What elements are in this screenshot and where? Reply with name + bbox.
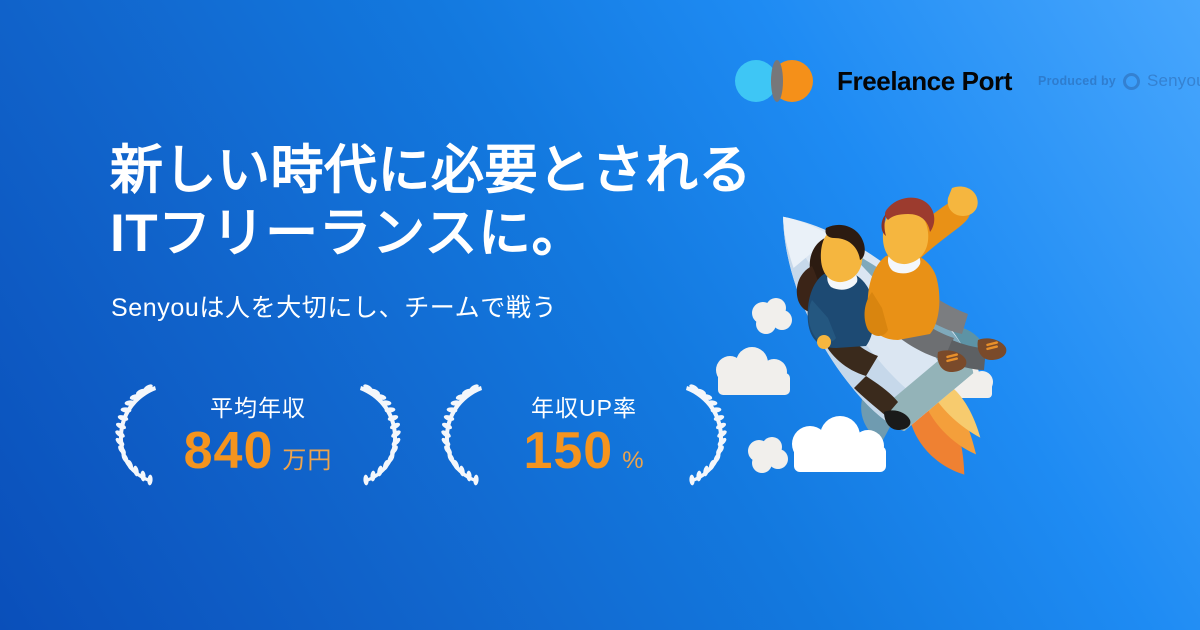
stat-body: 年収UP率 150 % [486,378,682,488]
produced-by-group: Produced by Senyou [1038,71,1200,91]
headline-line-2: ITフリーランスに。 [110,203,752,266]
stat-unit: % [622,449,644,473]
stat-value: 150 % [523,425,644,477]
hero-subtitle: Senyouは人を大切にし、チームで戦う [111,288,557,324]
stat-number: 150 [523,425,613,477]
stat-value: 840 万円 [184,425,333,477]
stats-group: 平均年収 840 万円 [108,378,734,488]
stat-card-average-income: 平均年収 840 万円 [108,378,408,488]
stat-card-income-up-rate: 年収UP率 150 % [434,378,734,488]
venn-two-circles-icon [735,60,823,102]
page-title: 新しい時代に必要とされる ITフリーランスに。 [110,140,752,265]
cloud-icon [748,437,788,473]
brand-name: Freelance Port [837,66,1012,97]
hero-banner: Freelance Port Produced by Senyou 新しい時代に… [0,0,1200,630]
stat-label: 平均年収 [210,389,306,423]
cloud-icon [752,298,792,334]
laurel-wreath-icon [356,378,404,488]
rocket-with-two-people-illustration [700,150,1120,510]
laurel-wreath-icon [438,378,486,488]
brand-bar: Freelance Port Produced by Senyou [735,60,1200,102]
stat-number: 840 [184,425,274,477]
stat-label: 年収UP率 [531,389,637,423]
headline-line-1: 新しい時代に必要とされる [110,140,752,203]
stat-body: 平均年収 840 万円 [160,378,356,488]
cloud-icon [716,347,790,395]
logo-circle-overlap [771,60,783,102]
senyou-ring-icon [1123,73,1140,90]
produced-by-label: Produced by [1038,74,1116,88]
stat-unit: 万円 [282,449,332,473]
partner-name: Senyou [1147,71,1200,91]
laurel-wreath-icon [112,378,160,488]
